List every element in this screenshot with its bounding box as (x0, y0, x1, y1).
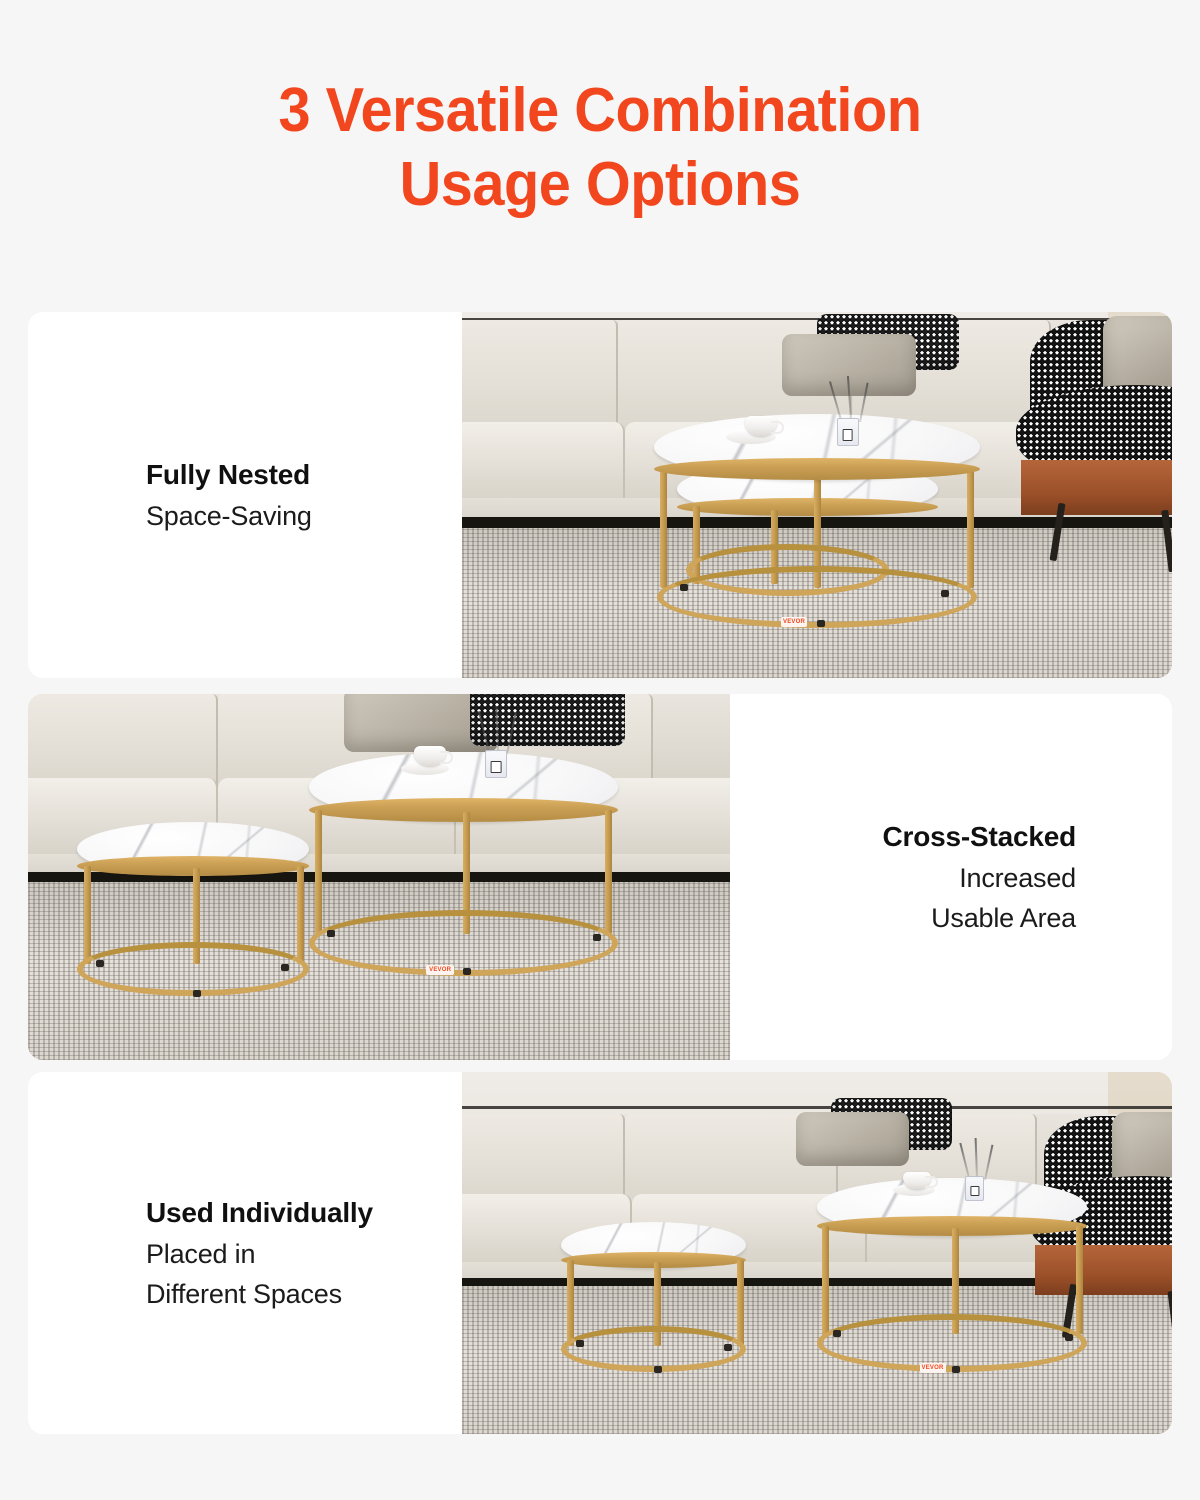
nesting-tables-fully-nested: VEVOR (654, 414, 981, 644)
page-title-line-2: Usage Options (42, 148, 1158, 222)
accent-armchair (1016, 320, 1172, 570)
small-table-rim (677, 498, 938, 516)
large-table-leg (822, 1226, 829, 1334)
taupe-pillow (796, 1112, 910, 1166)
sofa-back-cushion (28, 694, 218, 790)
feature-title: Used Individually (146, 1192, 373, 1234)
large-table-base-ring (657, 566, 977, 628)
small-table-base-ring (561, 1326, 746, 1372)
diffuser-label (842, 429, 853, 440)
table-foot (833, 1330, 841, 1337)
reed-diffuser-bottle (837, 418, 859, 446)
page-title: 3 Versatile Combination Usage Options (42, 74, 1158, 222)
feature-photo-used-individually: VEVOR (462, 1072, 1172, 1434)
large-table-leg (660, 470, 667, 588)
large-table-base-ring (817, 1314, 1087, 1372)
small-table-leg (84, 866, 91, 964)
large-nesting-table: VEVOR (817, 1178, 1087, 1390)
table-foot (654, 1366, 662, 1373)
feature-title: Fully Nested (146, 454, 310, 496)
feature-card-fully-nested: Fully Nested Space-Saving (28, 312, 1172, 678)
table-foot (593, 934, 601, 941)
vevor-brand-tag: VEVOR (920, 1363, 946, 1373)
diffuser-label (490, 761, 501, 772)
sofa-back-cushion (462, 1114, 625, 1206)
armchair-leg (1162, 510, 1172, 572)
table-foot (576, 1340, 584, 1347)
armchair-leg (1167, 1291, 1172, 1349)
feature-subtitle-line: Space-Saving (146, 496, 312, 536)
feature-subtitle-line: Different Spaces (146, 1274, 342, 1314)
small-table-base-ring (77, 942, 309, 996)
large-table-leg (967, 470, 974, 588)
table-foot (96, 960, 104, 967)
sofa-back-cushion (462, 320, 618, 438)
small-table-leg (297, 866, 304, 964)
table-foot (281, 964, 289, 971)
feature-title: Cross-Stacked (883, 816, 1076, 858)
feature-subtitle-line: Placed in (146, 1234, 255, 1274)
large-nesting-table: VEVOR (309, 752, 618, 992)
room-scene: VEVOR (462, 312, 1172, 678)
feature-card-cross-stacked: VEVOR (28, 694, 1172, 1060)
coffee-cup (745, 416, 777, 436)
table-foot (952, 1366, 960, 1373)
small-nesting-table (77, 822, 309, 1010)
large-table-rim (654, 458, 981, 480)
page-title-line-1: 3 Versatile Combination (279, 76, 922, 145)
large-table-leg (1076, 1226, 1083, 1334)
coffee-cup (414, 746, 446, 766)
vevor-brand-tag: VEVOR (781, 617, 807, 627)
table-foot (941, 590, 949, 597)
feature-card-used-individually: Used Individually Placed in Different Sp… (28, 1072, 1172, 1434)
large-table-leg (315, 810, 322, 934)
feature-photo-cross-stacked: VEVOR (28, 694, 730, 1060)
vevor-brand-tag: VEVOR (426, 965, 454, 975)
diffuser-label (970, 1186, 979, 1196)
houndstooth-pillow (470, 694, 624, 746)
small-nesting-table (561, 1222, 746, 1384)
table-foot (680, 584, 688, 591)
armchair-leather-base (1021, 460, 1172, 515)
wall-trim-line (462, 1106, 1172, 1109)
table-foot (327, 930, 335, 937)
reed-diffuser-bottle (485, 750, 507, 778)
large-table-base-ring (309, 910, 618, 976)
small-table-leg (567, 1260, 574, 1346)
feature-subtitle-line: Usable Area (931, 898, 1076, 938)
room-scene: VEVOR (462, 1072, 1172, 1434)
table-foot (817, 620, 825, 627)
table-foot (193, 990, 201, 997)
large-table-leg (605, 810, 612, 934)
reed-diffuser-bottle (965, 1176, 984, 1201)
feature-text-block: Used Individually Placed in Different Sp… (28, 1072, 462, 1434)
room-scene: VEVOR (28, 694, 730, 1060)
table-foot (724, 1344, 732, 1351)
table-foot (463, 968, 471, 975)
feature-text-block: Cross-Stacked Increased Usable Area (730, 694, 1172, 1060)
coffee-cup (903, 1172, 931, 1189)
infographic-page: 3 Versatile Combination Usage Options Fu… (0, 0, 1200, 1500)
feature-photo-fully-nested: VEVOR (462, 312, 1172, 678)
feature-subtitle-line: Increased (959, 858, 1076, 898)
feature-text-block: Fully Nested Space-Saving (28, 312, 462, 678)
table-foot (1065, 1334, 1073, 1341)
small-table-leg (737, 1260, 744, 1346)
